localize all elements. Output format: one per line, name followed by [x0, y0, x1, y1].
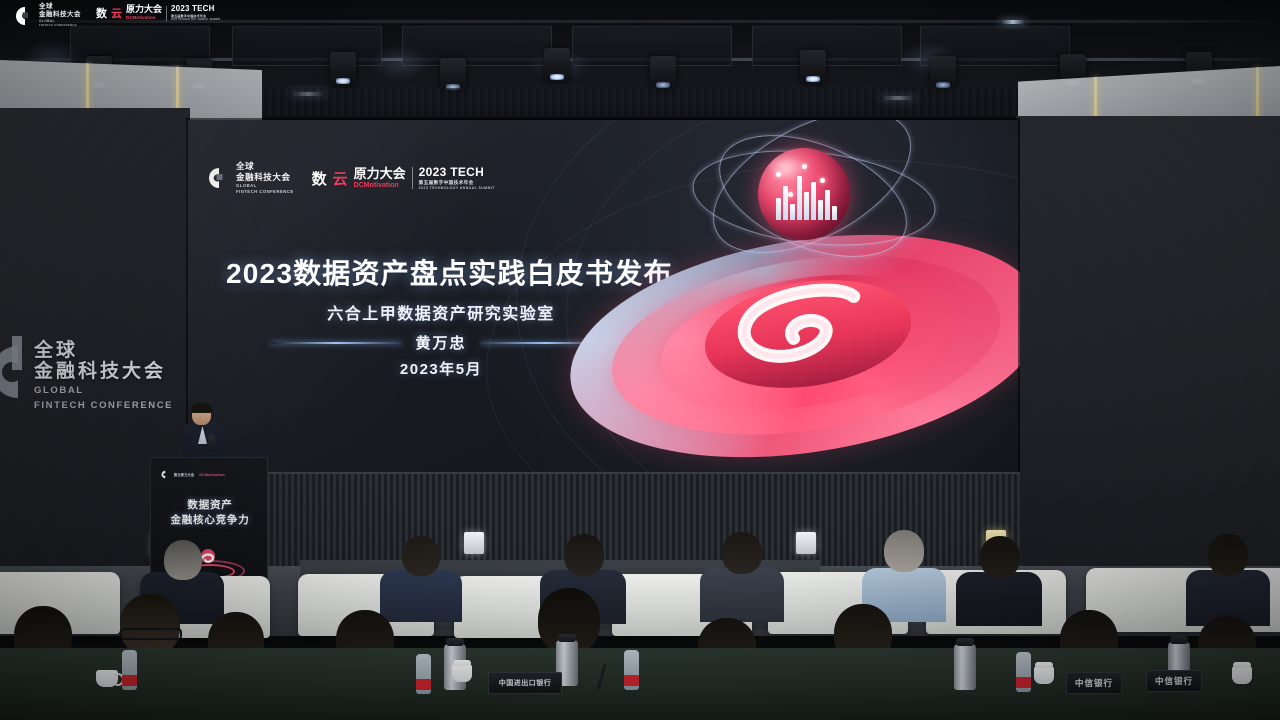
- sphere-dot: [788, 192, 793, 197]
- screen-dcm-yuanli: 原力大会: [354, 167, 406, 180]
- logo-divider: [412, 167, 413, 189]
- sphere-dot: [820, 178, 825, 183]
- water-bottle-icon: [122, 650, 137, 690]
- screen-header-logos: 全球 金融科技大会 GLOBAL FINTECH CONFERENCE 数 云 …: [206, 162, 495, 194]
- person-head: [884, 530, 924, 572]
- watermark-dcm-yuanli: 原力大会: [126, 5, 162, 14]
- person-head: [1208, 534, 1248, 576]
- person-body: [700, 568, 784, 622]
- audience-person: [1186, 534, 1270, 624]
- ceiling-panel: [232, 26, 382, 66]
- conference-stage-scene: 全球 金融科技大会 GLOBAL FINTECH CONFERENCE 数 云 …: [0, 0, 1280, 720]
- person-head: [722, 532, 762, 574]
- screen-speaker-name: 黄万忠: [415, 332, 466, 353]
- watermark-tech-en: 2023 TECHNOLOGY ANNUAL SUMMIT: [171, 19, 220, 21]
- ceiling-panel: [752, 26, 902, 66]
- teacup-icon: [1034, 666, 1054, 684]
- moving-head-light-icon: [330, 52, 356, 86]
- nameplate-label: 中信银行: [1075, 677, 1113, 689]
- screen-tech-cn: 第五届数字中国技术年会: [419, 181, 495, 186]
- moving-head-light-icon: [930, 56, 956, 90]
- handheld-microphone-icon: [208, 434, 215, 452]
- podium-title-line1: 数据资产: [151, 498, 268, 513]
- presenter-hair: [191, 403, 212, 413]
- nameplate-label: 中国进出口银行: [499, 678, 552, 688]
- nameplate-label: 中信银行: [1155, 675, 1193, 687]
- watermark-dcm-shu: 数: [96, 5, 107, 21]
- table-nameplate: 中信银行: [1066, 672, 1122, 694]
- gfc-mark-icon: [206, 166, 230, 190]
- watermark-gfc-cn2: 金融科技大会: [39, 12, 81, 19]
- city-skyline-icon: [776, 176, 837, 220]
- water-bottle-icon: [416, 654, 431, 694]
- sphere-dot: [802, 164, 807, 169]
- audience-person: [700, 532, 784, 620]
- moving-head-light-icon: [544, 48, 570, 82]
- stage-light-glow: [370, 46, 430, 80]
- gfc-cn-line1: 全球: [34, 340, 173, 361]
- podium-logo-sub: DCMotivation: [199, 473, 225, 477]
- presenter-avatar: [183, 404, 223, 460]
- screen-gfc-cn1: 全球: [236, 162, 294, 171]
- orbiting-sphere-spiral-graphic: [586, 132, 1020, 462]
- podium-logo-row: 数云原力大会 DCMotivation: [160, 470, 225, 479]
- person-head: [402, 536, 440, 576]
- table-nameplate: 中国进出口银行: [488, 672, 562, 694]
- global-fintech-conference-logo-icon: [14, 6, 34, 26]
- person-head: [164, 540, 202, 580]
- person-head: [980, 536, 1020, 578]
- gfc-en-line1: GLOBAL: [34, 385, 173, 397]
- screen-tech-en: 2023 TECHNOLOGY ANNUAL SUMMIT: [419, 187, 495, 190]
- moving-head-light-icon: [650, 56, 676, 90]
- screen-gfc-logo: 全球 金融科技大会 GLOBAL FINTECH CONFERENCE: [206, 162, 294, 194]
- screen-gfc-en1: GLOBAL: [236, 184, 294, 188]
- watermark-divider: [166, 6, 167, 21]
- eyeglasses-icon: [120, 628, 182, 640]
- gfc-en-line2: FINTECH CONFERENCE: [34, 400, 173, 412]
- coffee-mug-icon: [96, 670, 118, 687]
- gfc-mark-icon: [160, 470, 169, 479]
- gfc-cn-line2: 金融科技大会: [34, 361, 173, 382]
- sphere-dot: [776, 172, 781, 177]
- moving-head-light-icon: [440, 58, 466, 92]
- watermark-dcm-yun: 云: [111, 5, 122, 21]
- watermark-gfc-logo: 全球 金融科技大会 GLOBAL FINTECH CONFERENCE: [14, 4, 81, 27]
- ceiling-led-strip: [1000, 20, 1026, 24]
- main-led-screen: 全球 金融科技大会 GLOBAL FINTECH CONFERENCE 数 云 …: [186, 120, 1020, 472]
- table-nameplate: 中信银行: [1146, 670, 1202, 692]
- desk-microphone-icon: [596, 664, 606, 690]
- gfc-wall-text: 全球 金融科技大会 GLOBAL FINTECH CONFERENCE: [34, 340, 173, 412]
- watermark-gfc-en2: FINTECH CONFERENCE: [39, 24, 81, 27]
- podium-logo-cn: 数云原力大会: [174, 472, 194, 477]
- water-bottle-icon: [624, 650, 639, 690]
- divider-line-left: [271, 342, 401, 344]
- water-bottle-icon: [1016, 652, 1031, 692]
- screen-gfc-cn2: 金融科技大会: [236, 173, 294, 182]
- screen-dcm-sub: DCMotivation: [354, 182, 406, 189]
- audience-person: [380, 536, 462, 620]
- watermark-dcm-logo: 数 云 原力大会 DCMotivation 2023 TECH 第五届数字中国技…: [96, 5, 220, 21]
- watermark-dcm-sub: DCMotivation: [126, 16, 162, 21]
- person-head: [564, 534, 604, 576]
- side-wall-right: 数 云 原力大会 DCMotivation 2023 TE H 第五届数字中国技…: [1016, 116, 1280, 576]
- screen-dcm-shu: 数: [312, 168, 327, 189]
- teacup-icon: [452, 664, 472, 682]
- screen-dcm-logo: 数 云 原力大会 DCMotivation 2023 TECH 第五届数字中国技…: [312, 166, 495, 190]
- thermos-flask-icon: [954, 644, 976, 690]
- watermark-gfc-cn1: 全球: [39, 4, 81, 11]
- city-skyline-sphere-icon: [758, 148, 850, 240]
- person-head: [120, 594, 180, 656]
- teacup-icon: [1232, 666, 1252, 684]
- screen-tech-year: 2023 TECH: [419, 166, 495, 178]
- watermark-tech-year: 2023 TECH: [171, 5, 220, 13]
- screen-dcm-yun: 云: [333, 168, 348, 189]
- screen-gfc-en2: FINTECH CONFERENCE: [236, 190, 294, 194]
- broadcast-watermark-bar: 全球 金融科技大会 GLOBAL FINTECH CONFERENCE 数 云 …: [0, 0, 300, 32]
- moving-head-light-icon: [800, 50, 826, 84]
